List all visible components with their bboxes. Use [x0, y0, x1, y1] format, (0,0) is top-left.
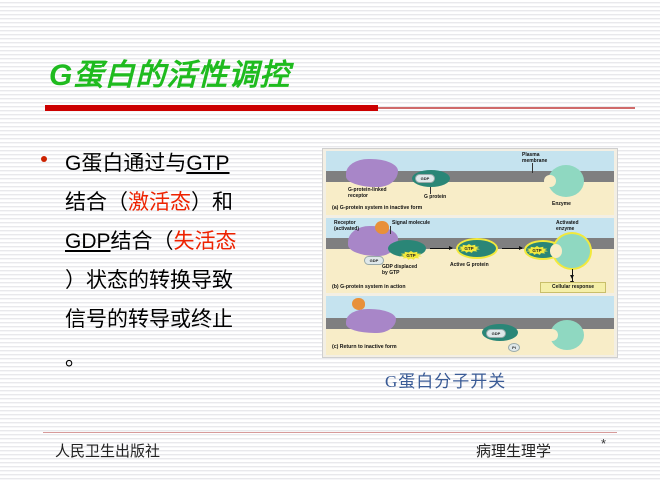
gdp-label-c: GDP [486, 329, 506, 338]
body-text-plain: ）状态的转换导致 [65, 269, 233, 292]
body-line: ）状态的转换导致 [65, 261, 305, 300]
panel-a-caption: (a) G-protein system in inactive form [332, 205, 422, 211]
activated-enzyme-label: Activated enzyme [556, 220, 579, 232]
cellular-response-box: Cellular response [540, 282, 606, 293]
panel-b-caption: (b) G-protein system in action [332, 284, 406, 290]
gdp-label-a: GDP [415, 174, 435, 183]
body-line: 信号的转导或终止 [65, 300, 305, 339]
body-text-red-inactivated: 失活态 [174, 230, 237, 253]
reaction-arrow-2 [502, 248, 522, 249]
body-line: 结合（激活态）和 [65, 183, 305, 222]
body-line: 。 [65, 339, 305, 378]
footer-publisher: 人民卫生出版社 [55, 440, 160, 461]
body-line: GDP结合（失活态 [65, 222, 305, 261]
footer-subject: 病理生理学 [476, 440, 551, 461]
panel-c-caption: (c) Return to inactive form [332, 344, 397, 350]
body-text-plain: 。 [65, 347, 86, 370]
gdp-label-b: GDP [364, 256, 384, 265]
active-g-protein-label: Active G protein [450, 262, 489, 268]
bullet-marker [41, 156, 47, 162]
body-text-plain: G蛋白通过与 [65, 152, 186, 175]
diagram-panel-a: GDP Plasma membrane G-protein-linked rec… [326, 151, 614, 215]
slide-canvas: G蛋白的活性调控 G蛋白通过与GTP 结合（激活态）和 GDP结合（失活态 ）状… [0, 0, 660, 480]
diagram-panel-b: GDP GTP GTP GTP Cellular response Recept… [326, 218, 614, 293]
title-rule-thin [378, 107, 635, 109]
title-rule-thick [45, 105, 378, 111]
body-paragraph: G蛋白通过与GTP 结合（激活态）和 GDP结合（失活态 ）状态的转换导致 信号… [65, 144, 305, 378]
footer-divider [43, 432, 617, 433]
enzyme-label: Enzyme [552, 201, 571, 207]
enzyme-shape [548, 165, 584, 197]
receptor-label: G-protein-linked receptor [348, 187, 387, 199]
body-text-underline-gtp: GTP [186, 152, 229, 175]
response-arrow-1 [572, 269, 573, 276]
body-text-plain: ）和 [191, 191, 233, 214]
body-text-underline-gdp: GDP [65, 230, 111, 253]
reaction-arrow-1 [430, 248, 452, 249]
signal-molecule-label: Signal molecule [392, 220, 430, 226]
g-protein-leader [430, 187, 431, 194]
signal-molecule-shape [375, 221, 389, 234]
activated-receptor-label: Receptor (activated) [334, 220, 359, 232]
plasma-membrane-leader [532, 163, 533, 173]
gdp-displaced-label: GDP displaced by GTP [382, 264, 417, 276]
signal-molecule-leader [390, 226, 391, 234]
pi-label: Pi [508, 343, 520, 352]
enzyme-shape [550, 320, 584, 350]
body-text-plain: 结合（ [111, 230, 174, 253]
plasma-membrane-label: Plasma membrane [522, 152, 547, 164]
figure-caption: G蛋白分子开关 [385, 367, 506, 392]
g-protein-linked-receptor-shape [346, 159, 398, 187]
inactive-receptor-shape [346, 309, 396, 333]
slide-number-placeholder: * [601, 436, 606, 451]
g-protein-label: G protein [424, 194, 446, 200]
body-text-red-activated: 激活态 [128, 191, 191, 214]
body-line: G蛋白通过与GTP [65, 144, 305, 183]
diagram-panel-c: GDP Pi (c) Return to inactive form [326, 296, 614, 355]
g-protein-diagram-image: GDP Plasma membrane G-protein-linked rec… [322, 148, 618, 358]
activated-enzyme-shape [554, 234, 590, 268]
page-title: G蛋白的活性调控 [49, 57, 290, 95]
body-text-plain: 结合（ [65, 191, 128, 214]
body-text-plain: 信号的转导或终止 [65, 308, 233, 331]
